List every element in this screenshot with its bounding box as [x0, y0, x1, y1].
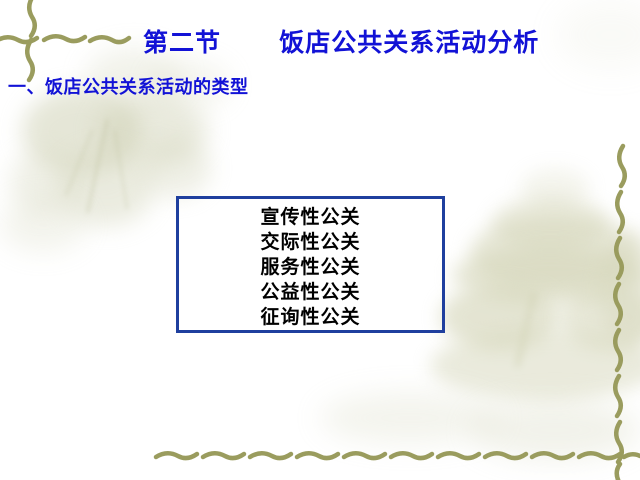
presentation-slide: 第二节 饭店公共关系活动分析 一、饭店公共关系活动的类型 宣传性公关 交际性公关… [0, 0, 640, 480]
pr-activity-types-list: 宣传性公关 交际性公关 服务性公关 公益性公关 征询性公关 [179, 205, 442, 330]
page-title: 第二节 饭店公共关系活动分析 [143, 26, 539, 60]
list-item: 服务性公关 [179, 255, 442, 280]
list-item: 宣传性公关 [179, 205, 442, 230]
list-item: 公益性公关 [179, 280, 442, 305]
slide-content: 第二节 饭店公共关系活动分析 一、饭店公共关系活动的类型 宣传性公关 交际性公关… [0, 0, 640, 480]
list-item: 交际性公关 [179, 230, 442, 255]
section-heading: 一、饭店公共关系活动的类型 [8, 76, 249, 100]
list-item: 征询性公关 [179, 305, 442, 330]
pr-activity-types-box: 宣传性公关 交际性公关 服务性公关 公益性公关 征询性公关 [176, 196, 445, 333]
